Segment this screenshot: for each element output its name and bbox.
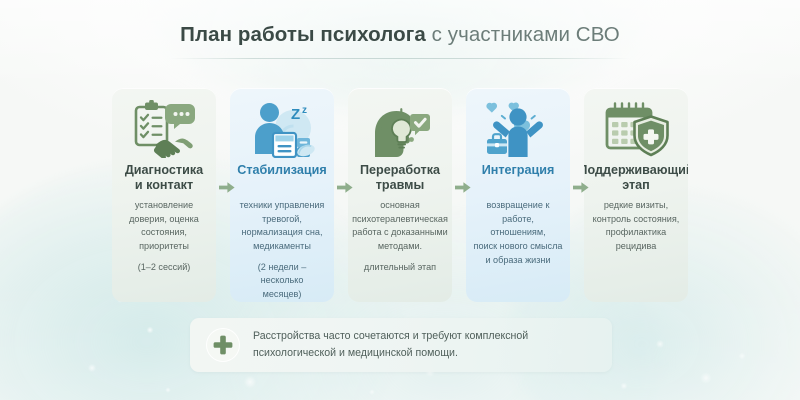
stage-card-note: длительный этап	[362, 261, 438, 275]
stage-card-body: техники управлениятревогой,нормализация …	[237, 199, 328, 254]
page-title: План работы психолога с участниками СВО	[0, 24, 800, 47]
stage-card-note: (2 недели – несколькомесяцев)	[234, 261, 330, 302]
stage-card-maintenance[interactable]: Поддерживающийэтап редкие визиты,контрол…	[584, 88, 688, 302]
head-lightbulb-checkmark-icon	[367, 98, 433, 160]
stage-card-diagnostics[interactable]: Диагностикаи контакт установлениедоверия…	[112, 88, 216, 302]
stage-card-title: Диагностикаи контакт	[125, 163, 203, 194]
svg-text:Z: Z	[291, 106, 300, 123]
stage-card-body: возвращение к работе,отношениям,поиск но…	[470, 199, 566, 267]
stage-card-title: Стабилизация	[237, 163, 326, 194]
person-sleep-medication-icon: Z z	[249, 98, 315, 160]
footer-note: Расстройства часто сочетаются и требуют …	[190, 318, 612, 372]
svg-text:z: z	[302, 105, 307, 116]
stage-card-trauma-processing[interactable]: Переработкатравмы основнаяпсихотералевти…	[348, 88, 452, 302]
stage-card-title: Переработкатравмы	[360, 163, 440, 194]
medical-cross-icon	[206, 328, 240, 362]
arrow-step-4-to-5	[573, 181, 589, 194]
stage-card-body: редкие визиты,контроль состояния,профила…	[590, 199, 683, 254]
footer-text: Расстройства часто сочетаются и требуют …	[253, 328, 528, 362]
arrow-step-3-to-4	[455, 181, 471, 194]
page-title-rest: с участниками СВО	[426, 23, 620, 46]
arrow-step-2-to-3	[337, 181, 353, 194]
stages-row: Диагностикаи контакт установлениедоверия…	[112, 88, 688, 304]
header: План работы психолога с участниками СВО	[0, 24, 800, 59]
stage-card-integration[interactable]: Интеграция возвращение к работе,отношени…	[466, 88, 570, 302]
stage-card-note: (1–2 сессий)	[136, 261, 193, 275]
stage-card-body: основнаяпсихотералевтическаяработа с док…	[349, 199, 451, 254]
stage-card-title: Интеграция	[482, 163, 555, 194]
page-title-emphasis: План работы психолога	[180, 23, 426, 46]
stage-card-body: установлениедоверия, оценкасостояния, пр…	[116, 199, 212, 254]
title-divider	[170, 58, 630, 59]
calendar-shield-cross-icon	[603, 98, 669, 160]
arrow-step-1-to-2	[219, 181, 235, 194]
person-arms-up-hearts-briefcase-icon	[485, 98, 551, 160]
stage-card-stabilization[interactable]: Z z Стабилизация техники управлениятрево…	[230, 88, 334, 302]
stage-card-title: Поддерживающийэтап	[584, 163, 688, 194]
clipboard-checklist-handshake-icon	[131, 98, 197, 160]
